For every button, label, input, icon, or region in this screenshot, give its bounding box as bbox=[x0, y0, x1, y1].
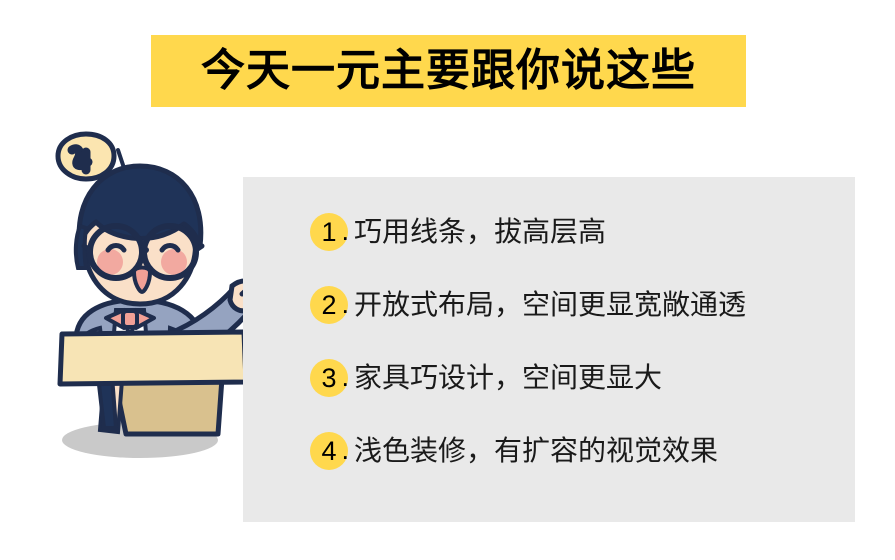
list-item: 2 . 开放式布局，空间更显宽敞通透 bbox=[310, 280, 855, 330]
list-item: 3 . 家具巧设计，空间更显大 bbox=[310, 353, 855, 403]
list-item-number: 1 bbox=[321, 217, 336, 248]
list-item-number-badge: 4 . bbox=[310, 432, 348, 470]
content-panel: 1 . 巧用线条，拔高层高 2 . 开放式布局，空间更显宽敞通透 3 . 家具巧… bbox=[243, 177, 855, 522]
list-item-separator: . bbox=[341, 435, 349, 466]
list-item-text: 开放式布局，空间更显宽敞通透 bbox=[354, 291, 746, 319]
list-item-separator: . bbox=[341, 216, 349, 247]
list-item-number-badge: 2 . bbox=[310, 286, 348, 324]
list-item-text: 家具巧设计，空间更显大 bbox=[354, 364, 662, 392]
list-item-text: 巧用线条，拔高层高 bbox=[354, 218, 606, 246]
points-list: 1 . 巧用线条，拔高层高 2 . 开放式布局，空间更显宽敞通透 3 . 家具巧… bbox=[310, 207, 855, 499]
list-item-number: 4 bbox=[321, 436, 336, 467]
list-item-number: 2 bbox=[321, 290, 336, 321]
list-item: 4 . 浅色装修，有扩容的视觉效果 bbox=[310, 426, 855, 476]
list-item-text: 浅色装修，有扩容的视觉效果 bbox=[354, 437, 718, 465]
list-item-separator: . bbox=[341, 289, 349, 320]
list-item-number-badge: 1 . bbox=[310, 213, 348, 251]
title-banner: 今天一元主要跟你说这些 bbox=[151, 35, 746, 107]
list-item-separator: . bbox=[341, 362, 349, 393]
list-item-number-badge: 3 . bbox=[310, 359, 348, 397]
page-title: 今天一元主要跟你说这些 bbox=[201, 49, 696, 93]
podium bbox=[60, 332, 246, 434]
list-item: 1 . 巧用线条，拔高层高 bbox=[310, 207, 855, 257]
list-item-number: 3 bbox=[321, 363, 336, 394]
